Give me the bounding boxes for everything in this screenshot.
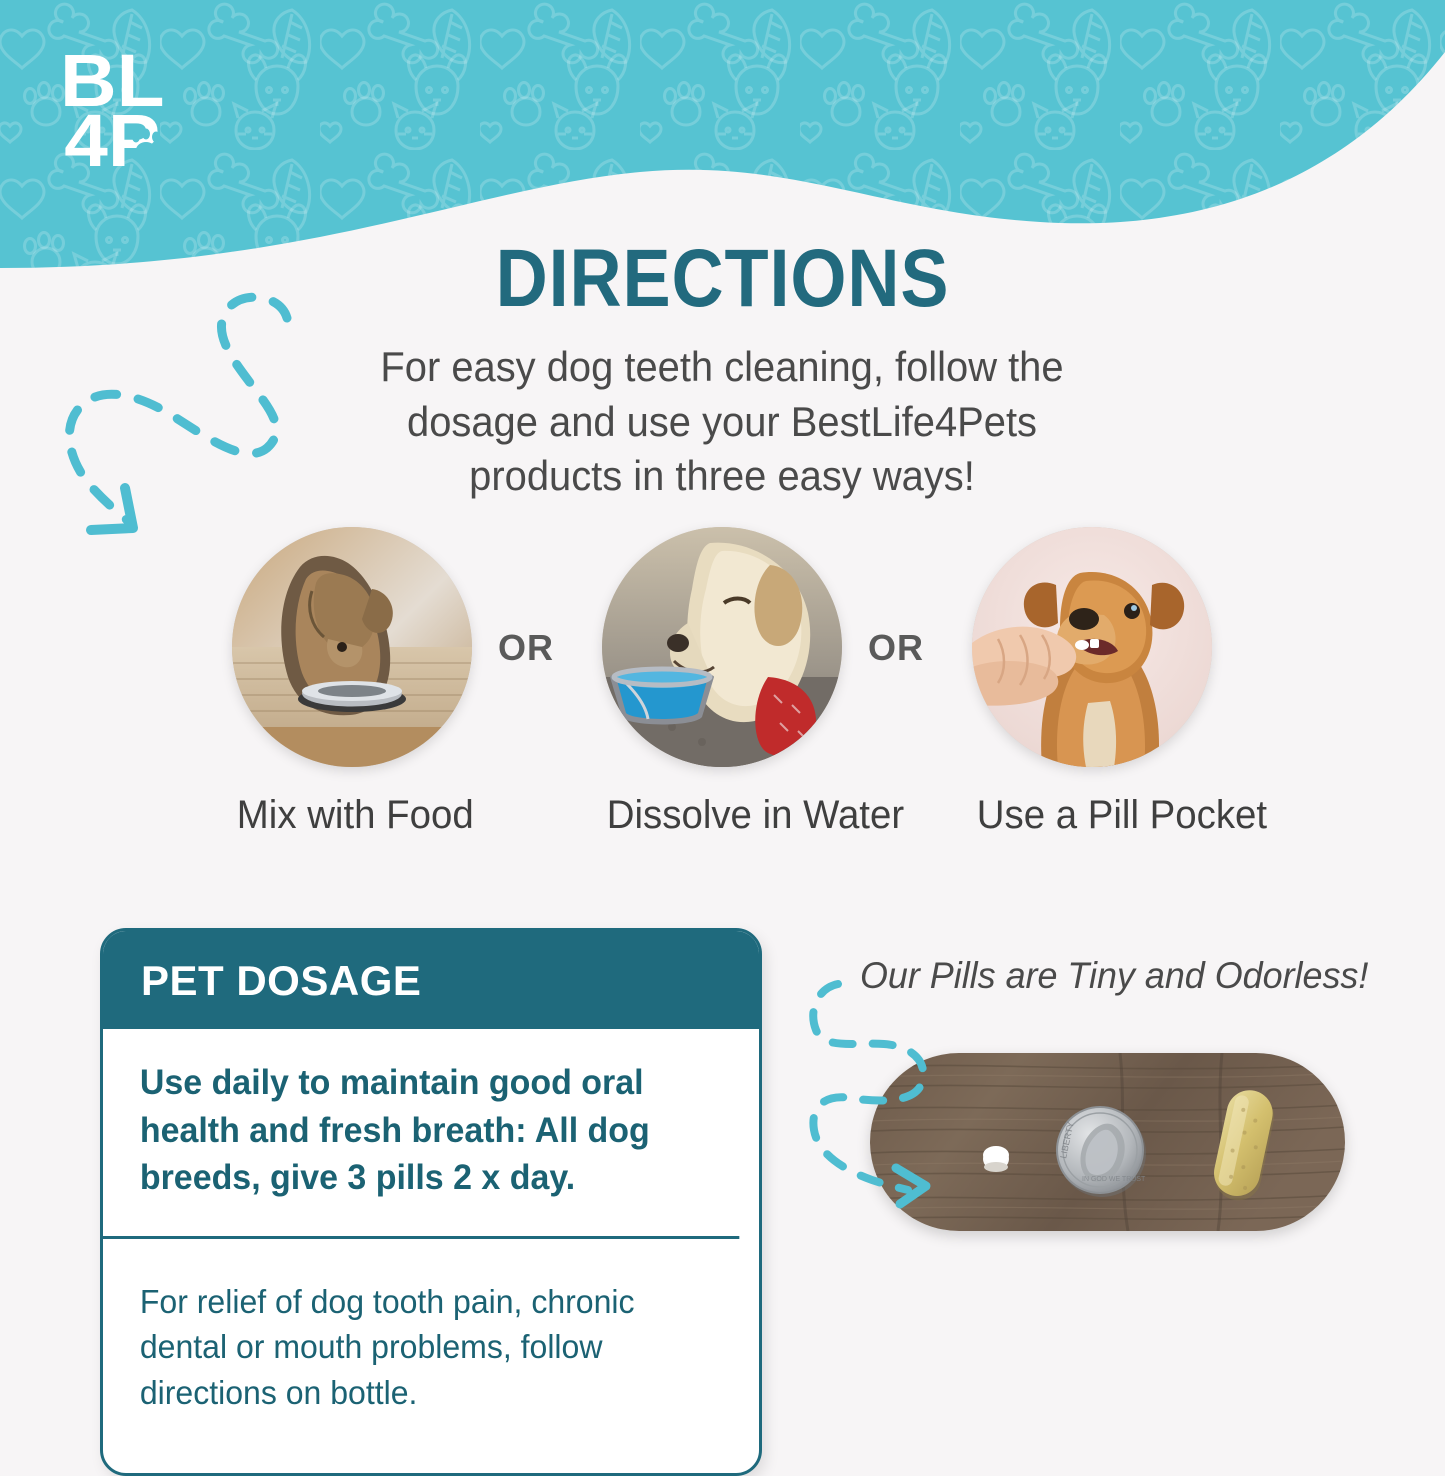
svg-text:IN GOD WE TRUST: IN GOD WE TRUST — [1082, 1176, 1146, 1183]
dog-drinking-from-water-bowl-photo — [602, 527, 842, 767]
method-item-dissolve-in-water[interactable]: Dissolve in Water — [602, 527, 842, 838]
brand-logo[interactable]: BL 4P — [60, 44, 180, 174]
pet-dosage-header: PET DOSAGE — [103, 931, 759, 1029]
method-label: Dissolve in Water — [607, 793, 837, 838]
methods-row: Mix with Food OR — [0, 527, 1445, 837]
curly-dashed-arrow-icon — [800, 978, 980, 1228]
teal-wave-shape — [0, 0, 1445, 270]
or-separator-2: OR — [868, 627, 924, 669]
pet-dosage-secondary-text: For relief of dog tooth pain, chronic de… — [103, 1239, 739, 1474]
or-separator-1: OR — [498, 627, 554, 669]
method-item-mix-with-food[interactable]: Mix with Food — [232, 527, 472, 838]
pet-dosage-card: PET DOSAGE Use daily to maintain good or… — [100, 928, 762, 1476]
method-label: Mix with Food — [237, 793, 467, 838]
pet-dosage-primary-text: Use daily to maintain good oral health a… — [103, 1029, 739, 1239]
curly-dashed-arrow-icon — [55, 288, 315, 543]
hand-giving-pill-to-dog-photo — [972, 527, 1212, 767]
header-banner: BL 4P — [0, 0, 1445, 270]
dog-eating-from-bowl-photo — [232, 527, 472, 767]
page-subtitle: For easy dog teeth cleaning, follow the … — [342, 340, 1102, 504]
method-label: Use a Pill Pocket — [977, 793, 1207, 838]
method-item-use-a-pill-pocket[interactable]: Use a Pill Pocket — [972, 527, 1212, 838]
